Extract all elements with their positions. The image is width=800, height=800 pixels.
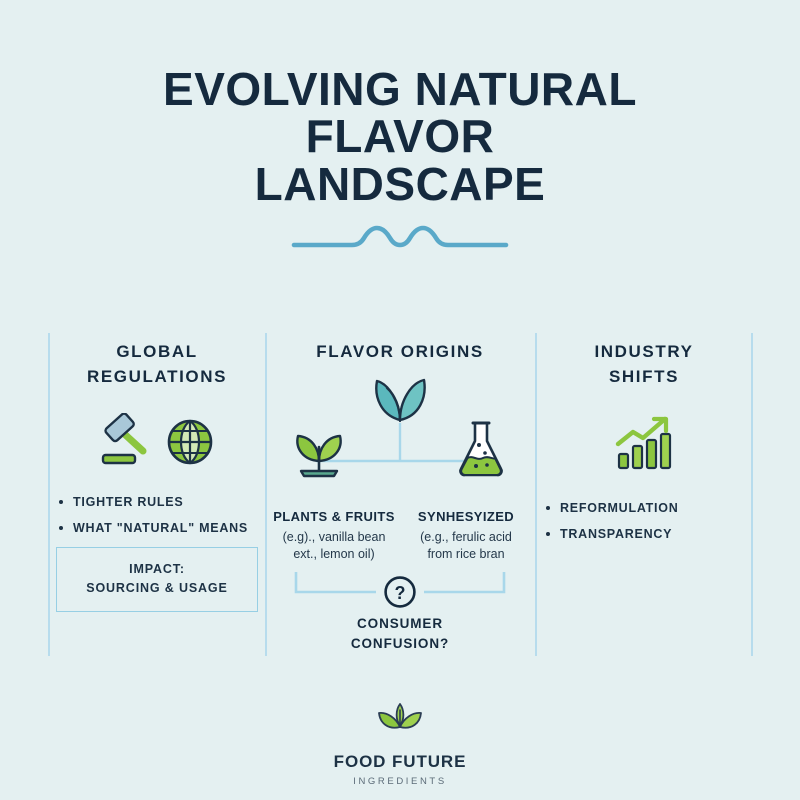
growth-chart-icon — [613, 416, 675, 472]
node-subtext: (e.g., ferulic acid from rice bran — [404, 529, 528, 563]
column-right-heading: INDUSTRY SHIFTS — [543, 340, 745, 389]
impact-box-line-1: IMPACT: — [63, 560, 251, 579]
title-line-2: FLAVOR — [0, 113, 800, 160]
brand-tagline: INGREDIENTS — [0, 776, 800, 787]
column-right-heading-line-2: SHIFTS — [543, 365, 745, 390]
node-plants-and-fruits: PLANTS & FRUITS (e.g)., vanilla bean ext… — [272, 509, 396, 563]
gavel-icon — [98, 413, 160, 471]
impact-box-line-2: SOURCING & USAGE — [63, 579, 251, 598]
node-subtext: (e.g)., vanilla bean ext., lemon oil) — [272, 529, 396, 563]
column-middle-heading-line-1: FLAVOR ORIGINS — [272, 340, 528, 365]
list-item: WHAT "NATURAL" MEANS — [56, 521, 258, 535]
left-bullet-list: TIGHTER RULES WHAT "NATURAL" MEANS — [56, 495, 258, 535]
page-title: EVOLVING NATURAL FLAVOR LANDSCAPE — [0, 66, 800, 208]
node-subtext-line-1: (e.g)., vanilla bean — [272, 529, 396, 546]
list-item: TIGHTER RULES — [56, 495, 258, 509]
confusion-line-1: CONSUMER — [272, 614, 528, 633]
impact-callout-box: IMPACT: SOURCING & USAGE — [56, 547, 258, 612]
leaf-pair-icon — [371, 375, 429, 423]
right-bullet-list: REFORMULATION TRANSPARENCY — [543, 501, 745, 541]
column-divider-4 — [751, 333, 753, 656]
column-industry-shifts: INDUSTRY SHIFTS REFORMULATION TRANSPAREN… — [543, 340, 745, 553]
brand-name: FOOD FUTURE — [0, 752, 800, 772]
sprout-icon — [290, 427, 348, 479]
column-middle-heading: FLAVOR ORIGINS — [272, 340, 528, 365]
node-name: PLANTS & FRUITS — [272, 509, 396, 524]
footer-logo: FOOD FUTURE INGREDIENTS — [0, 700, 800, 787]
flask-icon — [454, 419, 508, 479]
origins-branch-diagram — [272, 375, 528, 507]
wave-divider-icon — [290, 224, 510, 258]
column-left-heading-line-2: REGULATIONS — [56, 365, 258, 390]
column-divider-2 — [265, 333, 267, 656]
node-subtext-line-2: ext., lemon oil) — [272, 546, 396, 563]
column-divider-3 — [535, 333, 537, 656]
infographic-canvas: EVOLVING NATURAL FLAVOR LANDSCAPE GLOBAL… — [0, 0, 800, 800]
node-synthesized: SYNHESYIZED (e.g., ferulic acid from ric… — [404, 509, 528, 563]
title-line-1: EVOLVING NATURAL — [0, 66, 800, 113]
node-subtext-line-2: from rice bran — [404, 546, 528, 563]
column-flavor-origins: FLAVOR ORIGINS — [272, 340, 528, 653]
column-divider-1 — [48, 333, 50, 656]
consumer-confusion-label: CONSUMER CONFUSION? — [272, 614, 528, 652]
confusion-connector: ? — [272, 568, 528, 612]
node-subtext-line-1: (e.g., ferulic acid — [404, 529, 528, 546]
list-item: REFORMULATION — [543, 501, 745, 515]
svg-text:?: ? — [395, 583, 406, 603]
column-global-regulations: GLOBAL REGULATIONS — [56, 340, 258, 612]
column-right-heading-line-1: INDUSTRY — [543, 340, 745, 365]
node-name: SYNHESYIZED — [404, 509, 528, 524]
question-circle-icon: ? — [383, 575, 417, 609]
three-leaf-logo-icon — [376, 700, 424, 740]
list-item: TRANSPARENCY — [543, 527, 745, 541]
origin-node-labels: PLANTS & FRUITS (e.g)., vanilla bean ext… — [272, 509, 528, 563]
title-line-3: LANDSCAPE — [0, 161, 800, 208]
globe-icon — [164, 415, 216, 469]
column-left-heading: GLOBAL REGULATIONS — [56, 340, 258, 389]
column-left-heading-line-1: GLOBAL — [56, 340, 258, 365]
confusion-line-2: CONFUSION? — [272, 634, 528, 653]
